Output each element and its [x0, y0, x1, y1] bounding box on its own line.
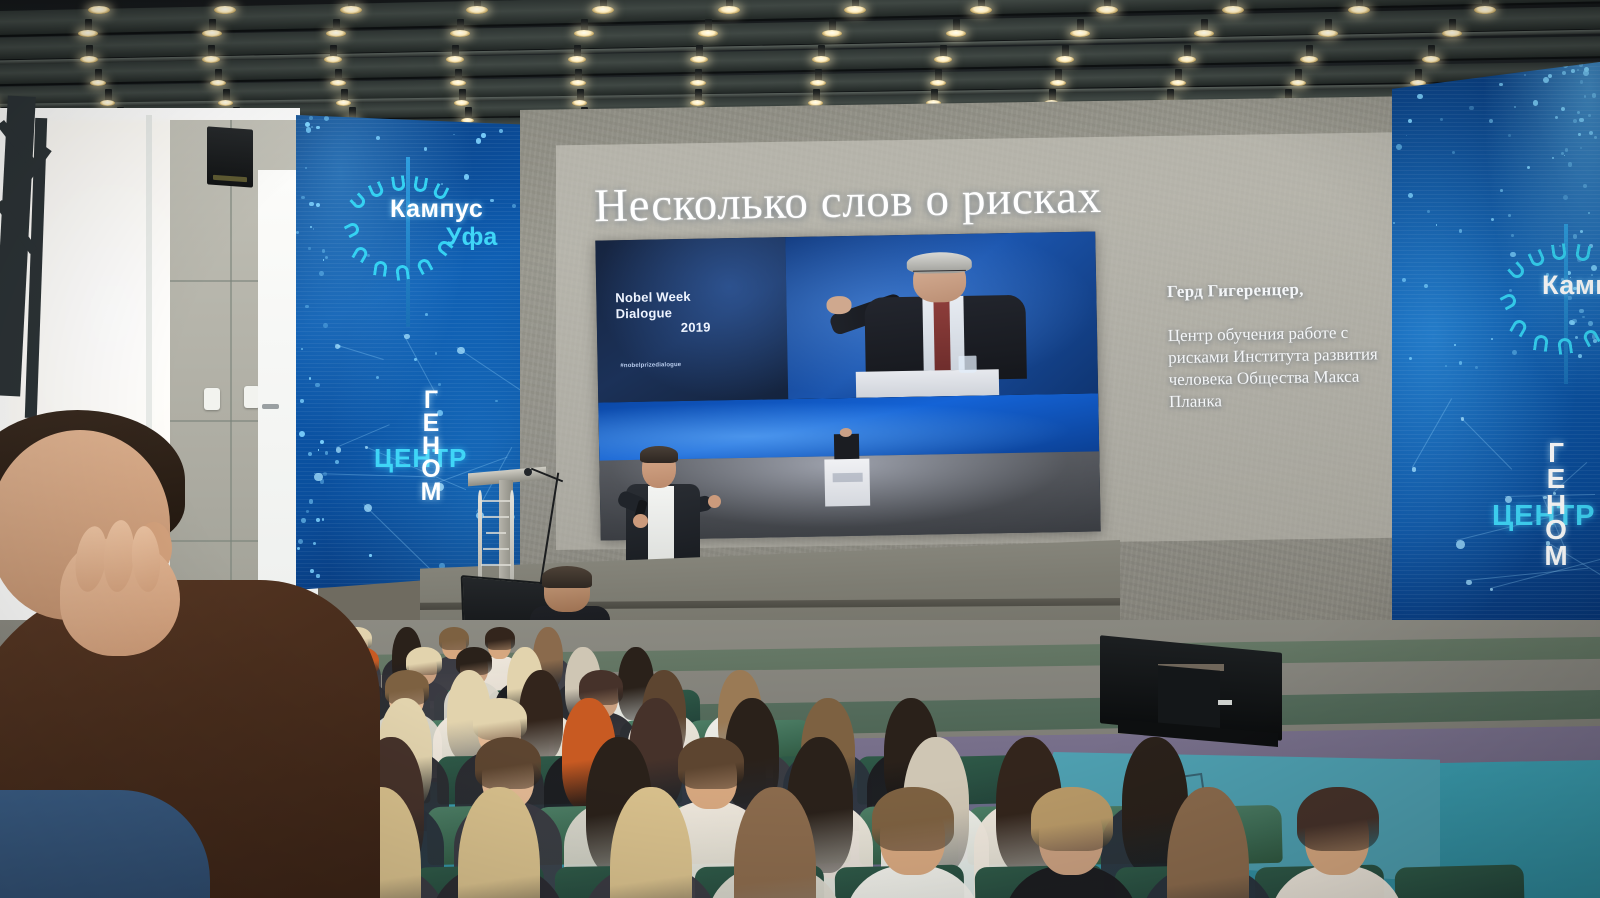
led-particle: [1561, 107, 1565, 111]
nobel-week-title-card: Nobel Week Dialogue 2019 #nobelprizedial…: [595, 237, 788, 402]
spotlight-icon: [214, 6, 236, 14]
led-particle: [1578, 133, 1580, 135]
audience-member: [431, 782, 572, 898]
led-particle: [1459, 361, 1463, 365]
spotlight-icon: [326, 30, 346, 37]
spotlight-icon: [808, 100, 823, 106]
led-particle: [319, 271, 324, 276]
led-particle: [512, 204, 516, 208]
spotlight-icon: [1170, 80, 1186, 86]
genom-letter: Е: [1540, 466, 1572, 492]
audience-member: [845, 782, 986, 898]
spotlight-icon: [844, 6, 866, 14]
genom-letter: М: [1540, 543, 1572, 569]
kampus-brand-label: Кампус: [1542, 270, 1600, 301]
spotlight-icon: [78, 30, 98, 37]
spotlight-icon: [1474, 6, 1496, 14]
nobel-week-hashtag: #nobelprizedialogue: [620, 362, 681, 369]
led-particle: [1571, 69, 1575, 73]
led-particle: [1573, 234, 1578, 239]
led-particle: [1543, 77, 1549, 83]
audience-member: [1004, 782, 1145, 898]
led-particle: [495, 400, 497, 402]
led-particle: [1511, 234, 1514, 237]
led-particle: [438, 383, 441, 386]
led-particle: [315, 383, 320, 388]
spotlight-icon: [1318, 30, 1338, 37]
spotlight-icon: [690, 56, 708, 63]
spotlight-icon: [330, 80, 346, 86]
spotlight-icon: [80, 56, 98, 63]
spotlight-icon: [1056, 56, 1074, 63]
led-particle: [424, 147, 428, 151]
genom-letter: Г: [1540, 440, 1572, 466]
audience-member: [1270, 782, 1411, 898]
spotlight-icon: [1096, 6, 1118, 14]
spotlight-icon: [946, 30, 966, 37]
spotlight-icon: [336, 100, 351, 106]
spotlight-icon: [592, 6, 614, 14]
spotlight-icon: [90, 80, 106, 86]
slide-affiliation: Центр обучения работе с рисками Институт…: [1168, 321, 1406, 414]
led-particle: [1592, 93, 1596, 97]
spotlight-icon: [210, 80, 226, 86]
spotlight-icon: [718, 6, 740, 14]
lectern: [468, 470, 546, 590]
audience-hair: [1167, 787, 1249, 898]
spotlight-icon: [450, 80, 466, 86]
genom-letter: М: [416, 481, 446, 504]
led-particle: [322, 249, 325, 252]
audience-seat[interactable]: [1394, 864, 1524, 898]
wall-sensor-icon: [204, 388, 220, 410]
spotlight-icon: [100, 100, 115, 106]
kampus-city-label: Уфа: [446, 223, 497, 252]
spotlight-icon: [1442, 30, 1462, 37]
led-particle: [300, 399, 304, 403]
spotlight-icon: [1422, 56, 1440, 63]
led-particle: [1573, 119, 1577, 123]
spotlight-icon: [450, 30, 470, 37]
led-particle: [1565, 148, 1568, 151]
spotlight-icon: [324, 56, 342, 63]
led-particle: [1594, 136, 1597, 139]
spotlight-icon: [1300, 56, 1318, 63]
spotlight-icon: [1070, 30, 1090, 37]
audience-hair: [734, 787, 816, 898]
led-network-node: [1461, 417, 1465, 421]
spotlight-icon: [1290, 80, 1306, 86]
audience-hair: [458, 787, 540, 898]
led-particle: [316, 203, 320, 207]
spotlight-icon: [202, 30, 222, 37]
auditorium-photo: Кампус Уфа ЦЕНТР ГЕНОМ Несколько слов о …: [0, 0, 1600, 898]
led-network-node: [335, 344, 340, 349]
genom-vertical-word: ГЕНОМ: [1540, 440, 1572, 569]
led-particle: [1533, 100, 1539, 106]
led-particle: [1579, 118, 1584, 123]
led-network-node: [1466, 580, 1471, 585]
led-particle: [1514, 106, 1516, 108]
spotlight-icon: [1178, 56, 1196, 63]
led-particle: [1475, 366, 1478, 369]
microphone-icon: [524, 468, 532, 476]
led-particle: [1583, 184, 1587, 188]
spotlight-icon: [454, 100, 469, 106]
spotlight-icon: [202, 56, 220, 63]
spotlight-icon: [570, 80, 586, 86]
led-panel-right: Кампус ЦЕНТР ГЕНОМ: [1392, 62, 1600, 672]
spotlight-icon: [698, 30, 718, 37]
led-particle: [1402, 278, 1406, 282]
led-particle: [323, 323, 328, 328]
genom-center-logo: ЦЕНТР ГЕНОМ: [1492, 450, 1600, 580]
spotlight-icon: [934, 56, 952, 63]
audience-hair: [1297, 787, 1379, 851]
spotlight-icon: [574, 30, 594, 37]
led-particle: [1580, 230, 1583, 233]
nobel-week-title: Nobel Week Dialogue 2019: [615, 288, 775, 337]
led-particle: [309, 377, 312, 380]
spotlight-icon: [690, 80, 706, 86]
spotlight-icon: [1050, 80, 1066, 86]
led-particle: [481, 133, 486, 138]
ceiling-loudspeaker: [207, 126, 253, 187]
spotlight-icon: [970, 6, 992, 14]
led-particle: [301, 196, 304, 199]
audience-hair: [872, 787, 954, 851]
audience-member: [707, 782, 848, 898]
genom-vertical-word: ГЕНОМ: [416, 389, 446, 504]
led-particle: [1524, 74, 1526, 76]
spotlight-icon: [446, 56, 464, 63]
led-particle: [1552, 157, 1554, 159]
audience-hair: [1031, 787, 1113, 851]
spotlight-icon: [1194, 30, 1214, 37]
spotlight-icon: [1222, 6, 1244, 14]
spotlight-icon: [572, 100, 587, 106]
led-particle: [1527, 166, 1530, 169]
spotlight-icon: [810, 80, 826, 86]
door-handle[interactable]: [262, 404, 279, 409]
kampus-brand-label: Кампус: [390, 195, 483, 224]
spotlight-icon: [812, 56, 830, 63]
led-network-node: [457, 347, 464, 354]
led-particle: [1584, 95, 1586, 97]
spotlight-icon: [822, 30, 842, 37]
led-particle: [1489, 119, 1493, 123]
dna-helix-icon: [474, 490, 518, 586]
audience-member: [1141, 782, 1282, 898]
led-particle: [313, 228, 314, 229]
spotlight-icon: [218, 100, 233, 106]
audience-member: [583, 782, 724, 898]
audience-hair: [610, 787, 692, 898]
led-particle: [1408, 193, 1413, 198]
led-particle: [1393, 222, 1395, 224]
spotlight-icon: [568, 56, 586, 63]
slide-text-block: Герд Гигеренцер, Центр обучения работе с…: [1167, 278, 1405, 414]
led-particle: [324, 116, 329, 121]
led-particle: [1445, 365, 1447, 367]
slide-speaker-name: Герд Гигеренцер,: [1167, 278, 1403, 302]
nwd-line3: 2019: [616, 318, 776, 336]
led-particle: [1417, 94, 1423, 100]
spotlight-icon: [88, 6, 110, 14]
led-particle: [308, 247, 310, 249]
spotlight-icon: [466, 6, 488, 14]
spotlight-icon: [340, 6, 362, 14]
led-network-node: [404, 334, 409, 339]
gigerenzer-closeup: [785, 231, 1098, 399]
led-particle: [1499, 83, 1503, 87]
spotlight-icon: [690, 100, 705, 106]
led-particle: [1583, 70, 1589, 76]
spotlight-icon: [930, 80, 946, 86]
spotlight-icon: [1348, 6, 1370, 14]
led-particle: [1568, 162, 1573, 167]
